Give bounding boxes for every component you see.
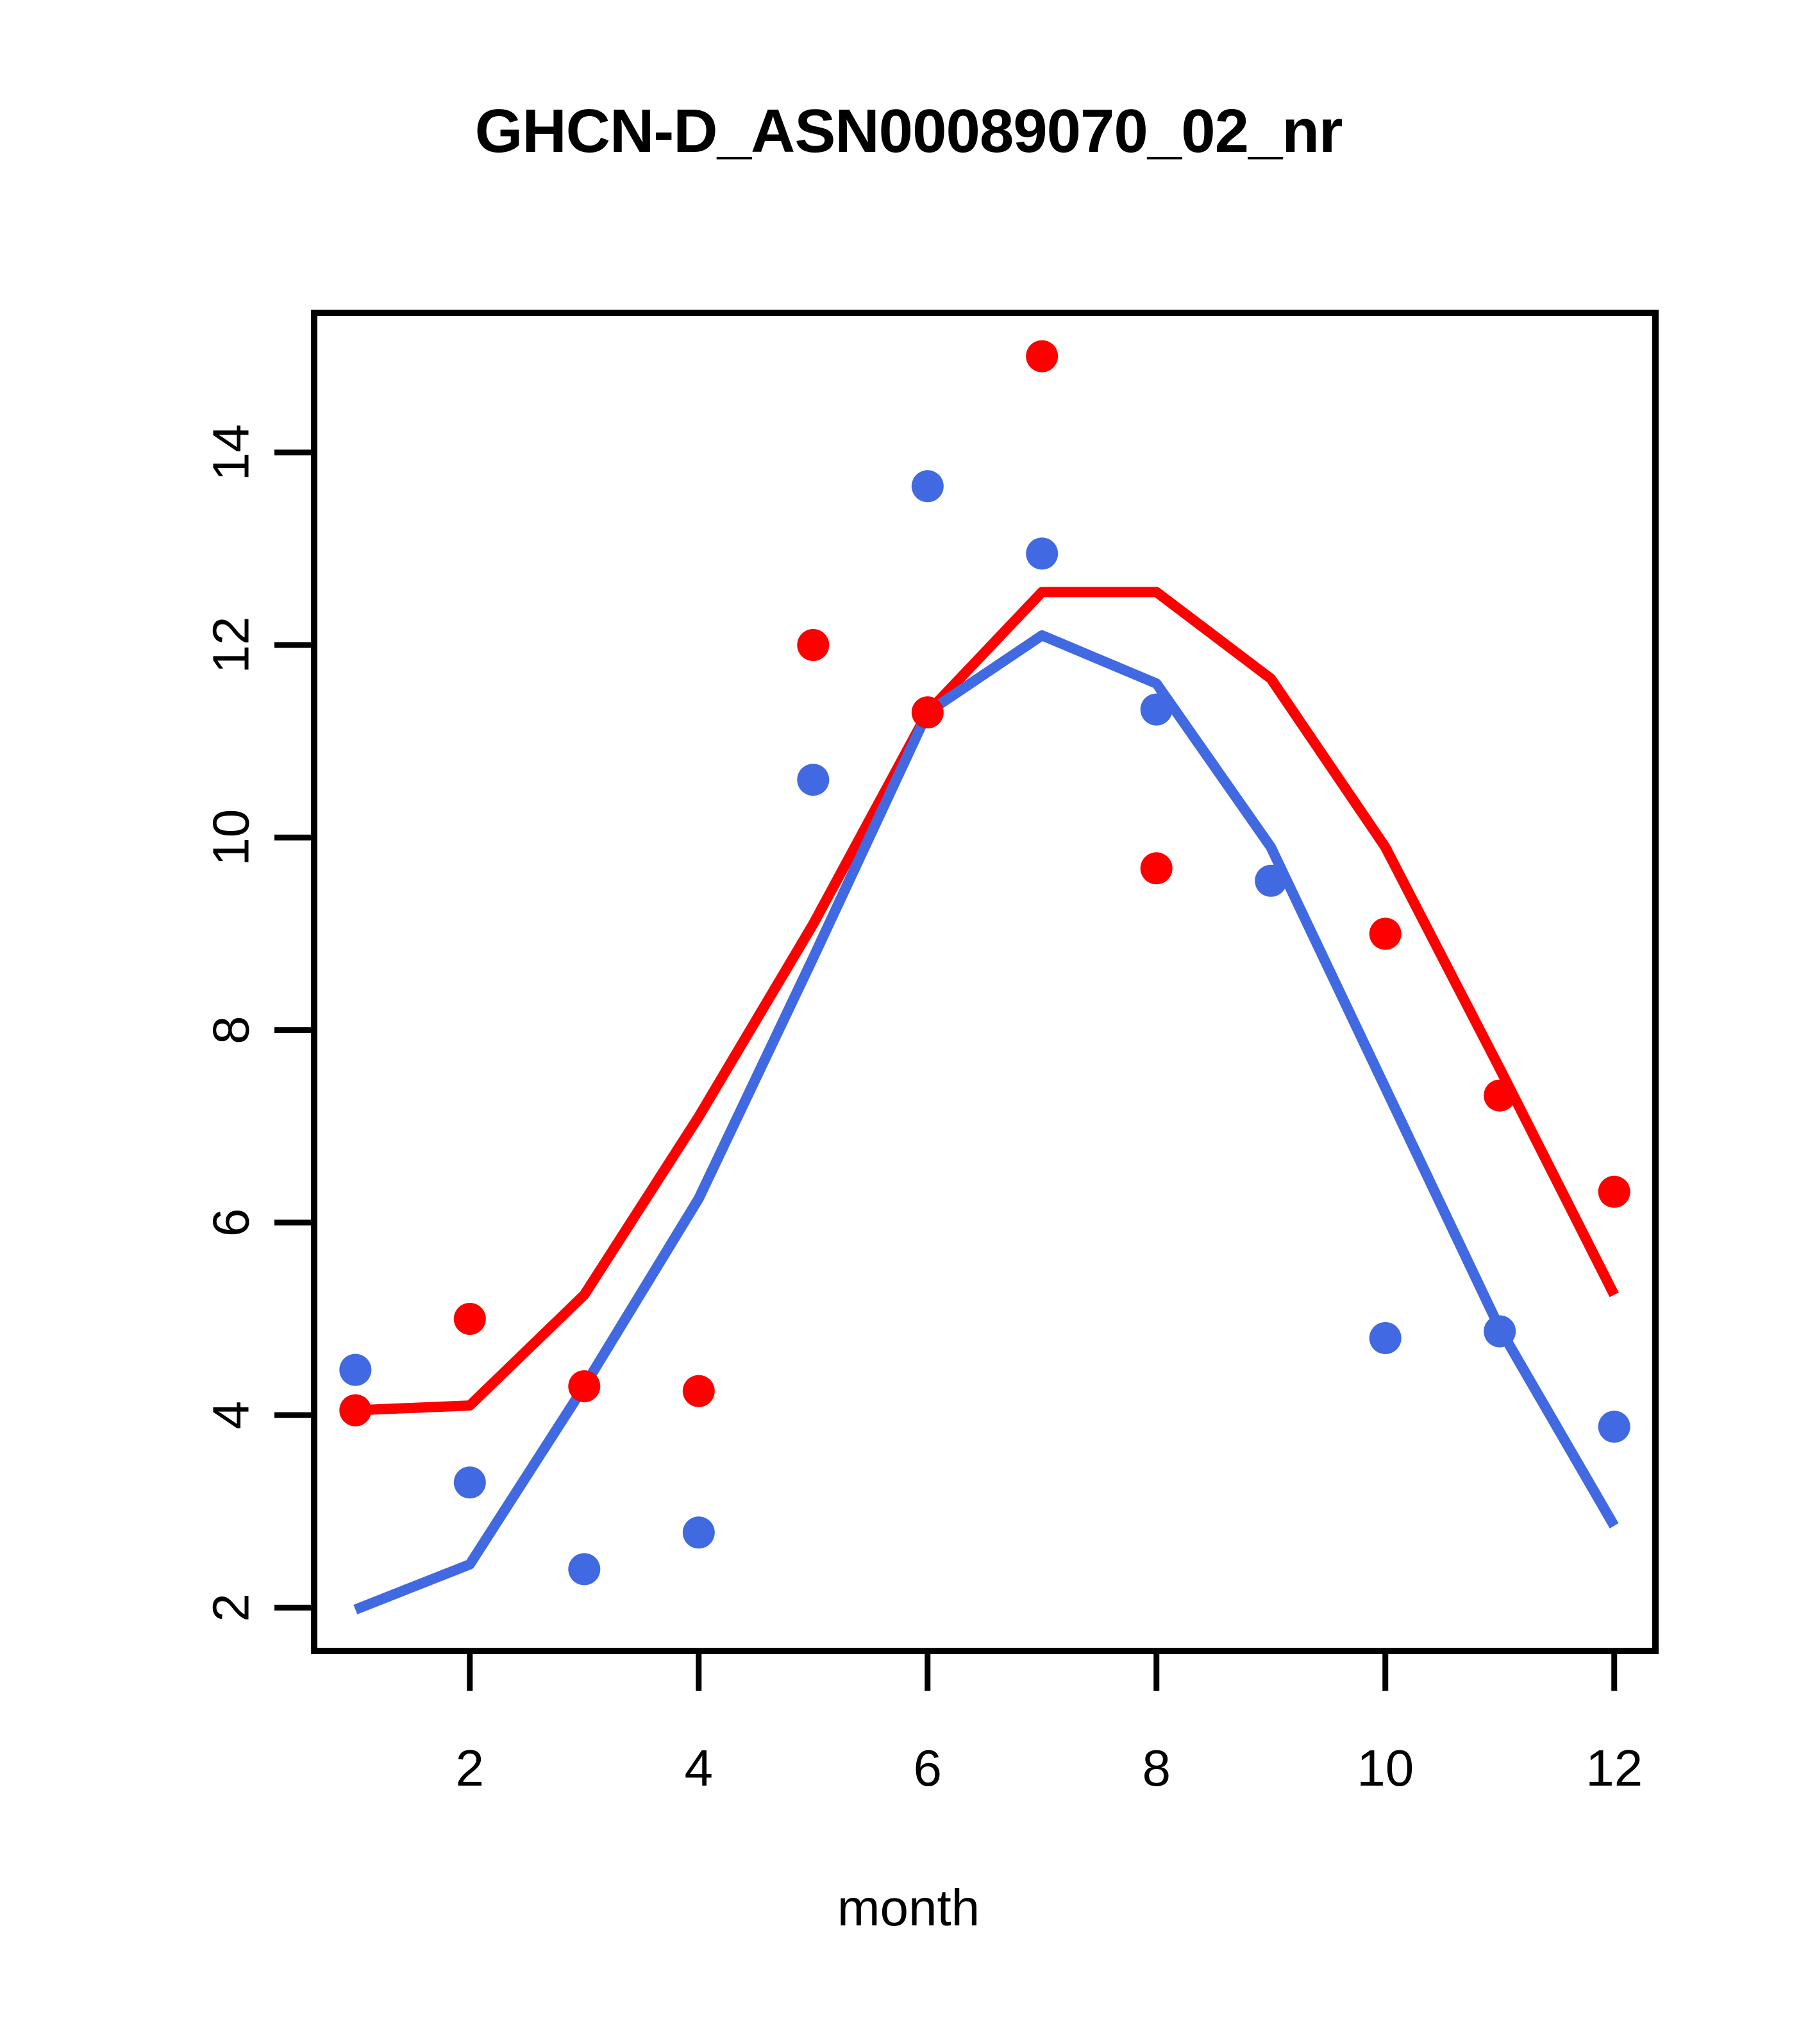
series-points [339,340,1630,1586]
x-tick-label-6: 6 [914,1739,942,1797]
x-tick-label-8: 8 [1142,1739,1171,1797]
data-point-blue-points-7 [1026,537,1058,569]
data-point-blue-points-9 [1255,865,1287,897]
y-tick-label-12: 12 [203,617,260,674]
x-tick-labels: 24681012 [456,1739,1643,1797]
data-point-blue-points-12 [1598,1411,1630,1443]
x-axis-ticks [470,1651,1614,1691]
x-tick-label-10: 10 [1357,1739,1414,1797]
y-axis-ticks [274,453,314,1608]
x-axis-label: month [0,1879,1817,1938]
data-point-red-points-4 [683,1375,715,1407]
series-line-red-line [355,592,1614,1410]
scatter-line-chart: 24681012 2468101214 [0,0,1817,2044]
y-tick-label-6: 6 [203,1209,260,1237]
data-point-red-points-7 [1026,340,1058,373]
y-tick-label-8: 8 [203,1016,260,1044]
data-point-red-points-5 [797,629,829,661]
data-point-red-points-3 [568,1370,600,1402]
series-lines [355,592,1614,1609]
data-point-red-points-11 [1484,1080,1516,1112]
data-point-red-points-1 [339,1395,371,1427]
x-tick-label-12: 12 [1586,1739,1643,1797]
x-tick-label-2: 2 [456,1739,485,1797]
data-point-blue-points-11 [1484,1316,1516,1348]
data-point-blue-points-10 [1369,1322,1402,1354]
data-point-blue-points-6 [912,470,944,502]
data-point-blue-points-8 [1141,694,1173,726]
data-point-red-points-8 [1141,852,1173,884]
data-point-blue-points-5 [797,764,829,796]
y-tick-label-4: 4 [203,1401,260,1430]
y-tick-label-2: 2 [203,1593,260,1622]
chart-figure: GHCN-D_ASN00089070_02_nr 24681012 246810… [0,0,1817,2044]
data-point-blue-points-1 [339,1354,371,1386]
x-tick-label-4: 4 [685,1739,714,1797]
data-point-red-points-10 [1369,917,1402,950]
data-point-red-points-6 [912,696,944,728]
y-tick-label-10: 10 [203,809,260,866]
series-line-blue-line [355,635,1614,1609]
data-point-blue-points-4 [683,1516,715,1548]
y-tick-label-14: 14 [203,424,260,481]
y-tick-labels: 2468101214 [203,424,260,1621]
data-point-red-points-2 [454,1303,486,1335]
data-point-blue-points-3 [568,1553,600,1585]
data-point-red-points-12 [1598,1176,1630,1208]
data-point-blue-points-2 [454,1466,486,1498]
